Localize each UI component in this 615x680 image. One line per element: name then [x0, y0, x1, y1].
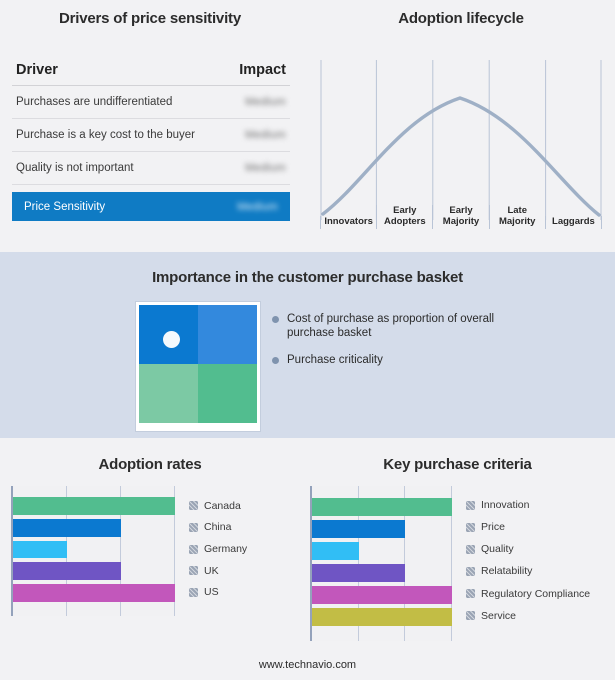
- quadrant-top-right: [198, 305, 257, 364]
- purchase-criteria-plot: [310, 486, 452, 641]
- legend-item[interactable]: Quality: [466, 538, 590, 560]
- quadrant-matrix-frame: [136, 302, 260, 431]
- bullet-dot-icon: [272, 316, 279, 323]
- legend-label: Quality: [481, 543, 514, 555]
- lifecycle-curve-svg: [320, 60, 602, 220]
- bar[interactable]: [312, 542, 359, 560]
- legend-label: Service: [481, 610, 516, 622]
- column-header-impact: Impact: [239, 62, 286, 78]
- footer-url: www.technavio.com: [0, 659, 615, 671]
- adoption-bell-curve: [323, 98, 599, 215]
- drivers-rows: Purchases are undifferentiatedMediumPurc…: [12, 86, 290, 221]
- adoption-rates-title: Adoption rates: [0, 456, 300, 473]
- lifecycle-stage-label: Innovators: [320, 216, 376, 229]
- lifecycle-title: Adoption lifecycle: [307, 10, 615, 27]
- basket-panel: Importance in the customer purchase bask…: [0, 252, 615, 438]
- legend-swatch-icon: [189, 545, 198, 554]
- legend-item[interactable]: Price: [466, 516, 590, 538]
- driver-row[interactable]: Quality is not importantMedium: [12, 152, 290, 185]
- bar[interactable]: [13, 519, 121, 537]
- lifecycle-stage-label: LateMajority: [489, 205, 545, 229]
- legend-label: US: [204, 586, 219, 598]
- lifecycle-axis-labels: InnovatorsEarlyAdoptersEarlyMajorityLate…: [320, 205, 602, 229]
- lifecycle-panel: Adoption lifecycle InnovatorsEarlyAdopte…: [307, 0, 615, 252]
- bar[interactable]: [13, 562, 121, 580]
- legend-label: Price: [481, 521, 505, 533]
- lifecycle-curve: [320, 60, 602, 220]
- column-header-driver: Driver: [16, 62, 58, 78]
- lifecycle-stage-label: EarlyMajority: [432, 205, 488, 229]
- infographic-page: Drivers of price sensitivity Driver Impa…: [0, 0, 615, 680]
- legend-swatch-icon: [189, 588, 198, 597]
- legend-item[interactable]: China: [189, 517, 247, 539]
- legend-swatch-icon: [189, 566, 198, 575]
- drivers-panel: Drivers of price sensitivity Driver Impa…: [0, 0, 300, 252]
- impact-value: Medium: [237, 201, 278, 213]
- legend-swatch-icon: [466, 589, 475, 598]
- position-dot-icon: [163, 331, 180, 348]
- purchase-criteria-legend: InnovationPriceQualityRelatabilityRegula…: [466, 486, 590, 641]
- legend-swatch-icon: [466, 567, 475, 576]
- driver-row-selected[interactable]: Price SensitivityMedium: [12, 192, 290, 221]
- legend-label: Regulatory Compliance: [481, 588, 590, 600]
- lifecycle-gridlines: [321, 60, 601, 220]
- legend-swatch-icon: [466, 545, 475, 554]
- legend-swatch-icon: [189, 523, 198, 532]
- bar[interactable]: [312, 564, 405, 582]
- bar[interactable]: [312, 608, 452, 626]
- impact-value: Medium: [245, 129, 286, 141]
- basket-legend: Cost of purchase as proportion of overal…: [272, 312, 592, 380]
- legend-label: China: [204, 521, 231, 533]
- legend-item[interactable]: Innovation: [466, 494, 590, 516]
- purchase-criteria-title: Key purchase criteria: [300, 456, 615, 473]
- legend-item[interactable]: US: [189, 582, 247, 604]
- quadrant-matrix: [139, 305, 257, 423]
- driver-label: Price Sensitivity: [24, 201, 105, 213]
- legend-swatch-icon: [189, 501, 198, 510]
- impact-value: Medium: [245, 162, 286, 174]
- bar[interactable]: [312, 520, 405, 538]
- legend-label: Canada: [204, 500, 241, 512]
- adoption-rates-panel: Adoption rates CanadaChinaGermanyUKUS: [0, 438, 300, 680]
- legend-item[interactable]: Service: [466, 605, 590, 627]
- basket-legend-item: Cost of purchase as proportion of overal…: [272, 312, 592, 340]
- purchase-criteria-panel: Key purchase criteria InnovationPriceQua…: [300, 438, 615, 680]
- bullet-dot-icon: [272, 357, 279, 364]
- adoption-rates-legend: CanadaChinaGermanyUKUS: [189, 486, 247, 616]
- driver-row[interactable]: Purchases are undifferentiatedMedium: [12, 86, 290, 119]
- legend-item[interactable]: UK: [189, 560, 247, 582]
- basket-legend-label: Cost of purchase as proportion of overal…: [287, 312, 502, 340]
- bar[interactable]: [13, 584, 175, 602]
- drivers-title: Drivers of price sensitivity: [0, 10, 300, 27]
- driver-label: Purchase is a key cost to the buyer: [16, 129, 195, 141]
- driver-label: Quality is not important: [16, 162, 134, 174]
- impact-value: Medium: [245, 96, 286, 108]
- adoption-rates-chart: CanadaChinaGermanyUKUS: [11, 486, 247, 616]
- basket-title: Importance in the customer purchase bask…: [0, 269, 615, 286]
- quadrant-bottom-right: [198, 364, 257, 423]
- legend-swatch-icon: [466, 611, 475, 620]
- driver-label: Purchases are undifferentiated: [16, 96, 172, 108]
- bar[interactable]: [13, 541, 67, 559]
- legend-label: UK: [204, 565, 219, 577]
- lifecycle-stage-label: EarlyAdopters: [376, 205, 432, 229]
- purchase-criteria-chart: InnovationPriceQualityRelatabilityRegula…: [310, 486, 590, 641]
- drivers-table-header: Driver Impact: [12, 62, 290, 86]
- legend-item[interactable]: Relatability: [466, 560, 590, 582]
- legend-label: Germany: [204, 543, 247, 555]
- legend-item[interactable]: Regulatory Compliance: [466, 583, 590, 605]
- bar[interactable]: [312, 586, 452, 604]
- basket-legend-label: Purchase criticality: [287, 353, 383, 367]
- adoption-rates-plot: [11, 486, 175, 616]
- legend-label: Relatability: [481, 565, 532, 577]
- legend-item[interactable]: Germany: [189, 538, 247, 560]
- bar[interactable]: [312, 498, 452, 516]
- bar[interactable]: [13, 497, 175, 515]
- legend-swatch-icon: [466, 501, 475, 510]
- legend-swatch-icon: [466, 523, 475, 532]
- legend-label: Innovation: [481, 499, 529, 511]
- lifecycle-stage-label: Laggards: [545, 216, 602, 229]
- quadrant-bottom-left: [139, 364, 198, 423]
- basket-legend-item: Purchase criticality: [272, 353, 592, 367]
- driver-row[interactable]: Purchase is a key cost to the buyerMediu…: [12, 119, 290, 152]
- legend-item[interactable]: Canada: [189, 495, 247, 517]
- drivers-table: Driver Impact Purchases are undifferenti…: [12, 62, 290, 221]
